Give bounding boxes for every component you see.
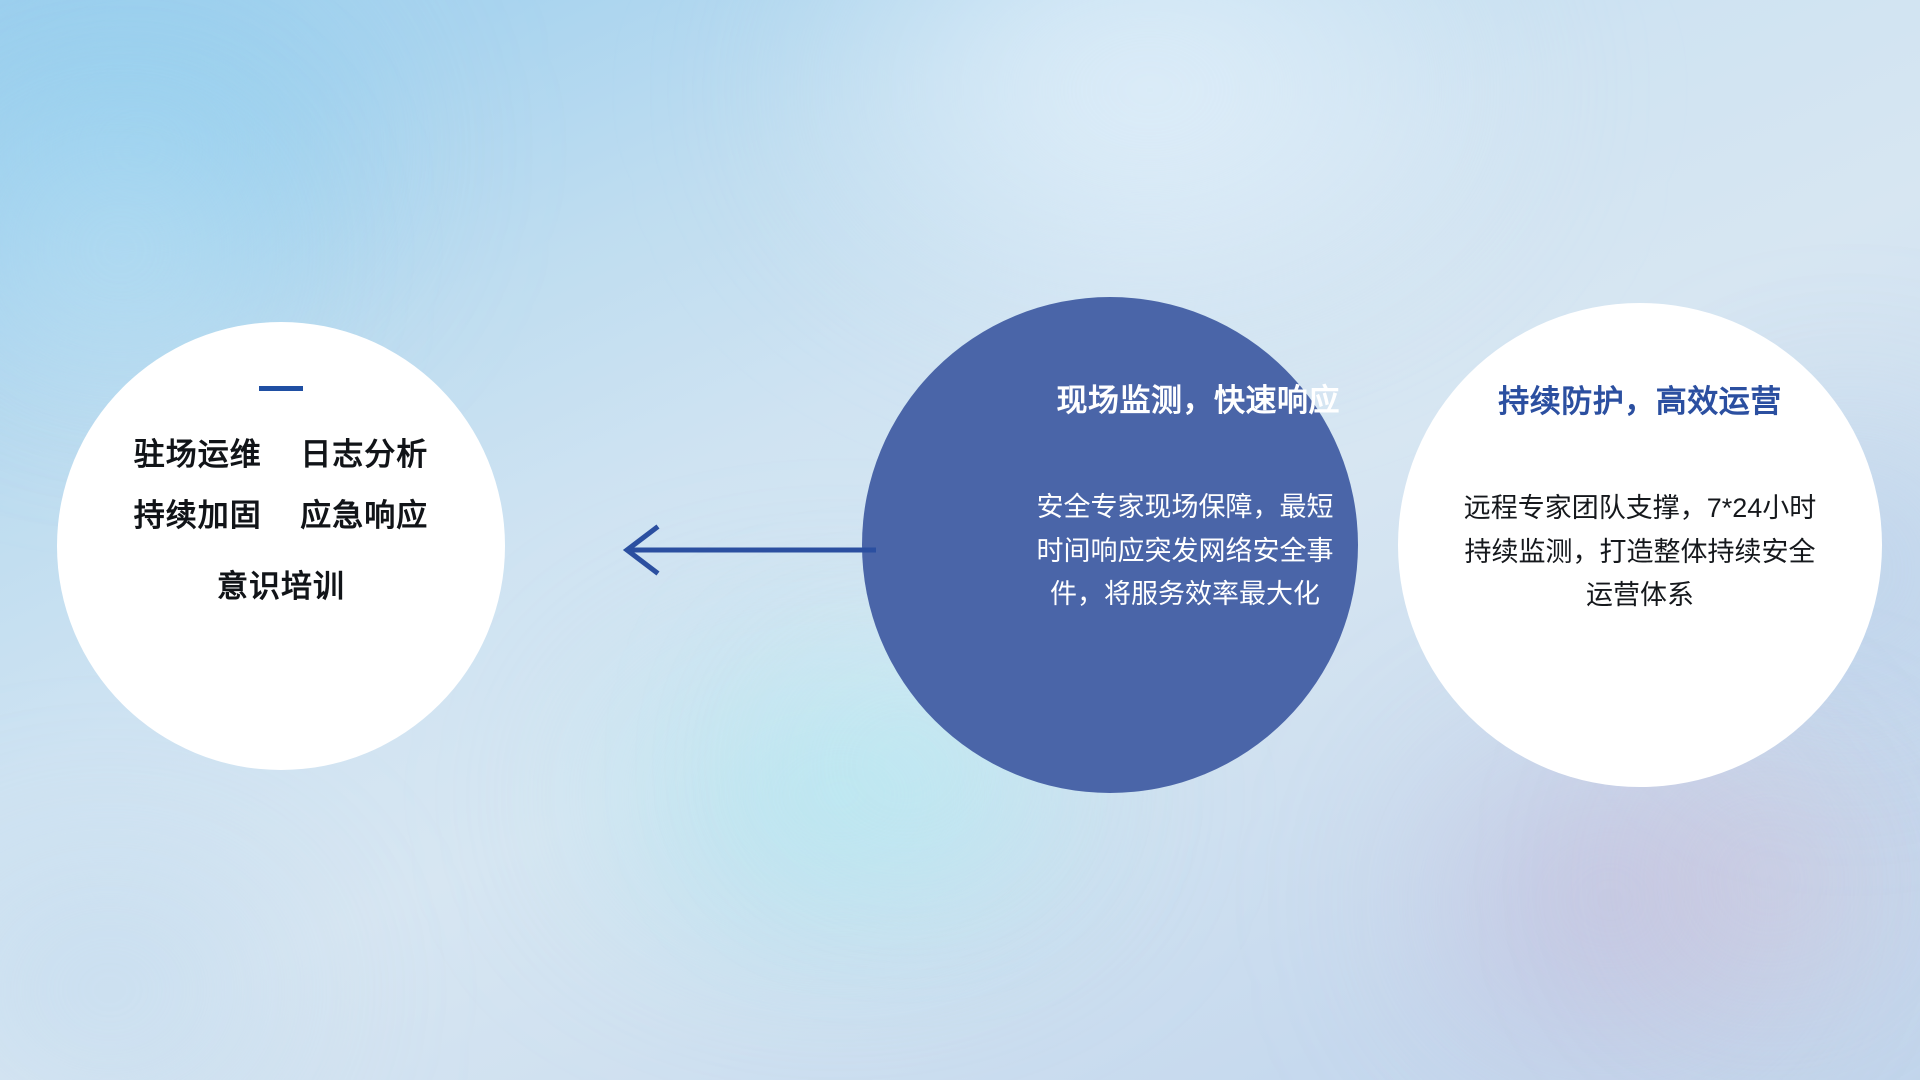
middle-circle-body: 安全专家现场保障，最短时间响应突发网络安全事件，将服务效率最大化 [1030, 486, 1340, 617]
middle-circle-content: 现场监测，快速响应 安全专家现场保障，最短时间响应突发网络安全事件，将服务效率最… [880, 297, 1358, 793]
right-circle-body: 远程专家团队支撑，7*24小时持续监测，打造整体持续安全运营体系 [1460, 487, 1820, 618]
left-circle-content: 驻场运维 日志分析 持续加固 应急响应 意识培训 [57, 322, 505, 770]
left-pointing-arrow-icon [612, 520, 876, 580]
slide-canvas: 驻场运维 日志分析 持续加固 应急响应 意识培训 现场监测，快速响应 安全专家现… [0, 0, 1920, 1080]
left-circle-line-3: 意识培训 [217, 567, 345, 607]
middle-circle-title: 现场监测，快速响应 [1057, 375, 1341, 420]
left-circle-line-2: 持续加固 应急响应 [134, 496, 428, 536]
left-circle-divider [259, 386, 303, 391]
right-circle-title: 持续防护，高效运营 [1498, 376, 1782, 421]
right-circle-content: 持续防护，高效运营 远程专家团队支撑，7*24小时持续监测，打造整体持续安全运营… [1398, 303, 1882, 787]
left-circle-line-1: 驻场运维 日志分析 [134, 435, 428, 475]
